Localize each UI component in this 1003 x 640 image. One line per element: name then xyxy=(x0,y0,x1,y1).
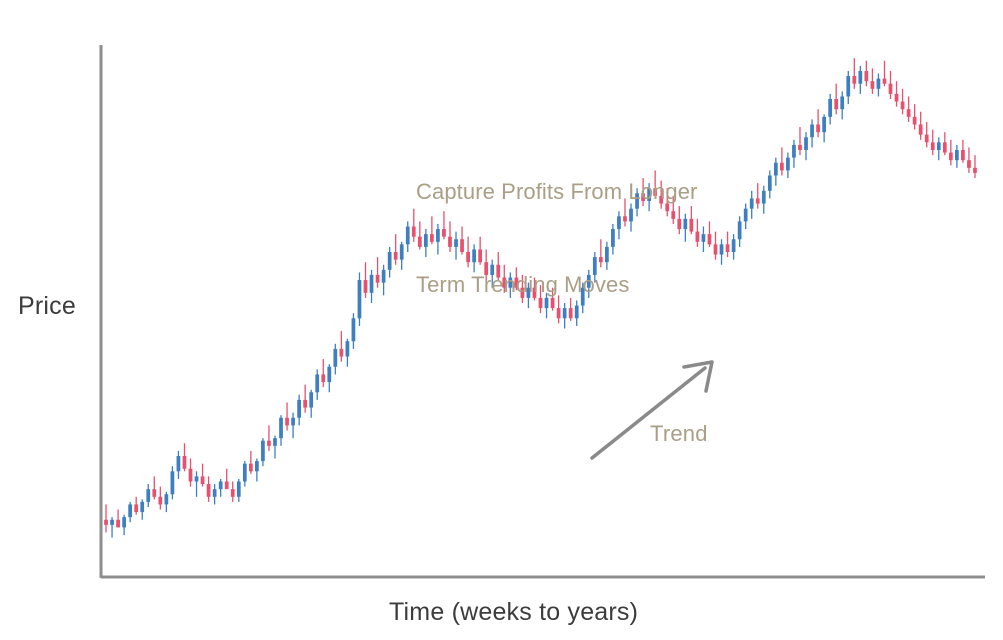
candle-body xyxy=(750,198,754,208)
candle-body xyxy=(333,349,337,367)
candle-body xyxy=(708,234,712,244)
candle-body xyxy=(225,482,229,490)
candle-body xyxy=(171,471,175,494)
candle-body xyxy=(285,418,289,426)
candle-body xyxy=(943,142,947,152)
candle-body xyxy=(864,71,868,81)
candle-body xyxy=(949,153,953,161)
candle-body xyxy=(738,221,742,239)
candle-body xyxy=(967,160,971,168)
candle-body xyxy=(907,109,911,117)
candle-body xyxy=(237,482,241,497)
candle-body xyxy=(883,79,887,84)
candle-body xyxy=(183,456,187,469)
candle-body xyxy=(370,275,374,293)
candle-body xyxy=(207,484,211,497)
candle-body xyxy=(164,494,168,504)
candle-body xyxy=(400,244,404,259)
candle-body xyxy=(828,99,832,117)
candle-body xyxy=(261,441,265,461)
candle-body xyxy=(840,96,844,109)
candle-body xyxy=(919,125,923,135)
candle-body xyxy=(213,489,217,497)
candle-body xyxy=(388,252,392,270)
candle-body xyxy=(177,456,181,471)
candle-body xyxy=(798,145,802,150)
candle-body xyxy=(816,125,820,133)
candle-body xyxy=(339,349,343,357)
candle-body xyxy=(774,163,778,176)
candle-body xyxy=(146,489,150,502)
candle-body xyxy=(255,461,259,471)
candle-body xyxy=(901,102,905,110)
candle-body xyxy=(376,275,380,283)
candle-body xyxy=(846,76,850,96)
candle-body xyxy=(352,318,356,341)
candle-body xyxy=(219,482,223,490)
candle-body xyxy=(122,517,126,527)
candle-body xyxy=(786,158,790,171)
candle-body xyxy=(382,270,386,283)
candle-body xyxy=(140,502,144,512)
candle-body xyxy=(243,464,247,482)
candle-body xyxy=(134,504,138,512)
candle-body xyxy=(303,400,307,408)
candle-body xyxy=(955,150,959,160)
trend-annotation-label: Trend xyxy=(650,421,708,447)
candle-body xyxy=(852,76,856,84)
candle-body xyxy=(768,176,772,191)
candle-body xyxy=(834,99,838,109)
candle-body xyxy=(858,71,862,84)
candle-body xyxy=(249,464,253,472)
candle-body xyxy=(895,94,899,102)
candle-body xyxy=(744,209,748,222)
candle-body xyxy=(822,117,826,132)
candle-body xyxy=(762,191,766,204)
candle-body xyxy=(128,504,132,517)
candle-body xyxy=(780,163,784,171)
candle-body xyxy=(931,142,935,150)
headline-line-1: Capture Profits From Longer xyxy=(416,176,697,207)
candle-body xyxy=(394,252,398,260)
candle-body xyxy=(110,520,114,525)
candle-body xyxy=(925,135,929,143)
candle-body xyxy=(913,117,917,125)
candle-body xyxy=(804,137,808,150)
candle-body xyxy=(346,341,350,356)
candle-body xyxy=(877,79,881,89)
candle-body xyxy=(792,145,796,158)
x-axis-label: Time (weeks to years) xyxy=(389,598,638,627)
candle-body xyxy=(810,125,814,138)
candle-body xyxy=(189,469,193,482)
candle-body xyxy=(195,476,199,481)
candle-body xyxy=(104,520,108,525)
candle-body xyxy=(726,244,730,252)
candle-body xyxy=(231,489,235,497)
candle-body xyxy=(714,244,718,254)
candle-body xyxy=(297,400,301,418)
candle-body xyxy=(702,234,706,242)
candle-body xyxy=(732,239,736,252)
candle-body xyxy=(158,497,162,505)
candle-body xyxy=(116,520,120,528)
candle-body xyxy=(201,476,205,484)
candle-body xyxy=(291,418,295,426)
candle-body xyxy=(871,81,875,89)
chart-figure: Price Time (weeks to years) Capture Prof… xyxy=(0,0,1003,640)
candle-body xyxy=(756,198,760,203)
candle-body xyxy=(309,392,313,407)
candle-body xyxy=(273,438,277,446)
candle-body xyxy=(267,441,271,446)
headline-annotation: Capture Profits From Longer Term Trendin… xyxy=(416,114,697,362)
candle-body xyxy=(315,374,319,392)
candle-body xyxy=(327,367,331,382)
candle-body xyxy=(152,489,156,497)
candle-body xyxy=(720,244,724,254)
trend-arrow-head xyxy=(684,362,712,391)
candle-body xyxy=(358,280,362,318)
candle-body xyxy=(973,168,977,173)
candle-body xyxy=(406,227,410,245)
candle-body xyxy=(364,280,368,293)
y-axis-label: Price xyxy=(18,292,76,321)
candle-body xyxy=(937,142,941,150)
candle-body xyxy=(321,374,325,382)
candle-body xyxy=(279,418,283,438)
candle-body xyxy=(961,150,965,160)
headline-line-2: Term Trending Moves xyxy=(416,269,697,300)
candle-body xyxy=(889,84,893,94)
